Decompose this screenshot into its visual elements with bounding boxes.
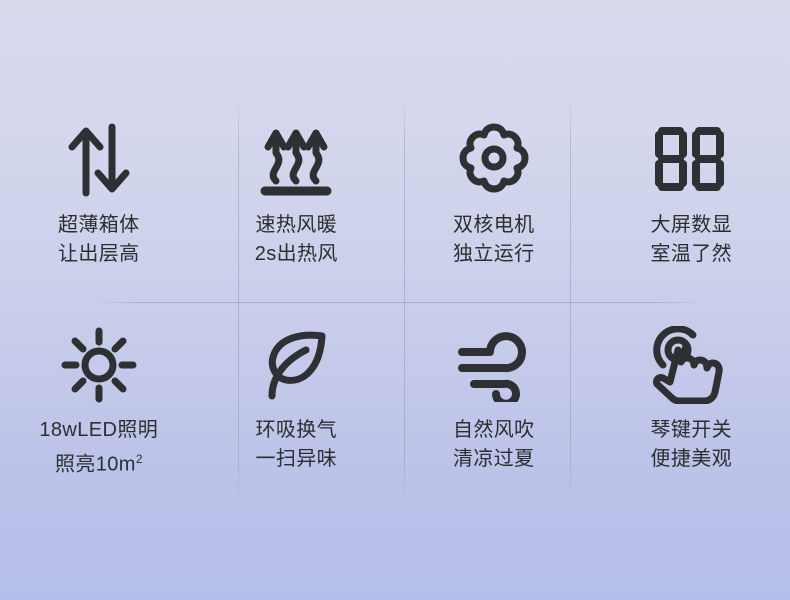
feature-grid: 超薄箱体 让出层高 速热风暖 2s出热风 xyxy=(0,95,790,505)
heat-waves-icon xyxy=(257,119,335,201)
seven-segment-display-icon xyxy=(655,119,727,201)
feature-caption: 大屏数显 室温了然 xyxy=(650,211,732,269)
leaf-icon xyxy=(258,324,334,406)
wind-icon xyxy=(452,324,536,406)
feature-caption-line-2: 照亮10m2 xyxy=(39,445,158,480)
feature-caption: 环吸换气 一扫异味 xyxy=(255,416,337,474)
feature-caption: 自然风吹 清凉过夏 xyxy=(453,416,535,474)
promo-feature-panel: 超薄箱体 让出层高 速热风暖 2s出热风 xyxy=(0,0,790,600)
feature-caption-line-1: 琴键开关 xyxy=(650,416,732,445)
feature-item-ventilation: 环吸换气 一扫异味 xyxy=(198,300,396,505)
feature-caption: 18wLED照明 照亮10m2 xyxy=(39,416,158,480)
gear-icon xyxy=(454,119,534,201)
feature-caption-line-2: 独立运行 xyxy=(453,240,535,269)
feature-caption-line-2-text: 照亮10m xyxy=(55,454,136,476)
feature-item-dual-motor: 双核电机 独立运行 xyxy=(395,95,593,300)
feature-caption-line-1: 自然风吹 xyxy=(453,416,535,445)
feature-caption: 速热风暖 2s出热风 xyxy=(255,211,338,269)
sun-icon xyxy=(61,324,137,406)
feature-caption-superscript: 2 xyxy=(136,452,143,466)
feature-caption: 超薄箱体 让出层高 xyxy=(58,211,140,269)
feature-caption-line-1: 超薄箱体 xyxy=(58,211,140,240)
feature-item-slim-body: 超薄箱体 让出层高 xyxy=(0,95,198,300)
feature-caption: 双核电机 独立运行 xyxy=(453,211,535,269)
feature-caption: 琴键开关 便捷美观 xyxy=(650,416,732,474)
feature-caption-line-1: 18wLED照明 xyxy=(39,416,158,445)
feature-caption-line-1: 大屏数显 xyxy=(650,211,732,240)
feature-item-led-lighting: 18wLED照明 照亮10m2 xyxy=(0,300,198,505)
feature-caption-line-2: 2s出热风 xyxy=(255,240,338,269)
feature-caption-line-2: 清凉过夏 xyxy=(453,445,535,474)
feature-caption-line-2: 一扫异味 xyxy=(255,445,337,474)
feature-item-digital-display: 大屏数显 室温了然 xyxy=(593,95,790,300)
feature-caption-line-1: 环吸换气 xyxy=(255,416,337,445)
feature-caption-line-2: 让出层高 xyxy=(58,240,140,269)
feature-caption-line-1: 速热风暖 xyxy=(255,211,338,240)
feature-item-fast-heat: 速热风暖 2s出热风 xyxy=(198,95,396,300)
feature-caption-line-2: 便捷美观 xyxy=(650,445,732,474)
up-down-arrows-icon xyxy=(64,119,134,201)
feature-caption-line-2: 室温了然 xyxy=(650,240,732,269)
feature-item-touch-switch: 琴键开关 便捷美观 xyxy=(593,300,790,505)
feature-item-natural-wind: 自然风吹 清凉过夏 xyxy=(395,300,593,505)
feature-caption-line-1: 双核电机 xyxy=(453,211,535,240)
touch-hand-icon xyxy=(650,324,732,406)
